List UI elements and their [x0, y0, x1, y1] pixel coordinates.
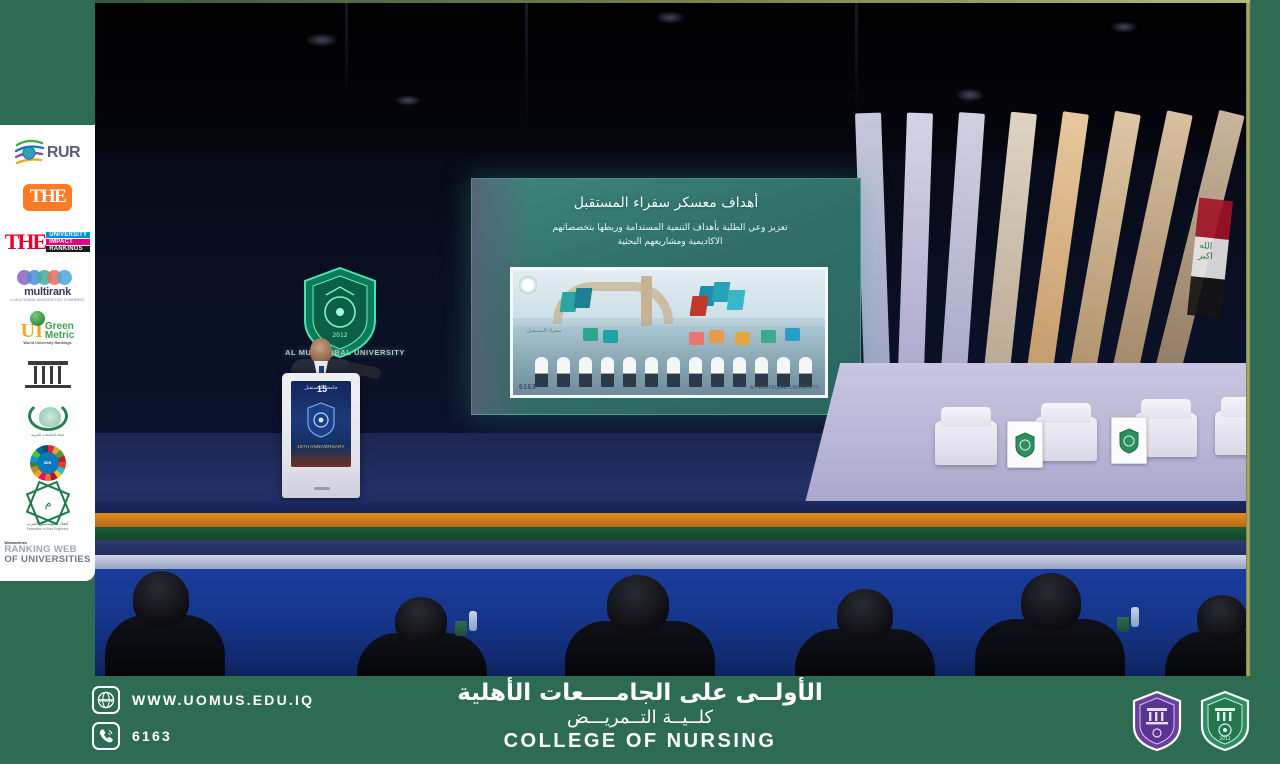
slide-photo-sdg-sign — [785, 328, 800, 341]
audience-head — [133, 571, 189, 627]
logo-webometrics: Webometrics RANKING WEB OF UNIVERSITIES — [4, 531, 92, 575]
slide-photo-logo-badge — [519, 276, 537, 294]
slide-subtitle-line1: تعزيز وعي الطلبة بأهداف التنمية المستدام… — [552, 223, 787, 233]
stage-strip-green — [95, 527, 1247, 540]
logo-sdg: SDG — [4, 441, 92, 485]
aaru-wreath-icon — [28, 401, 68, 431]
multirank-label: multirank — [24, 286, 71, 298]
slide-photo-sdg-sign — [603, 330, 618, 343]
audience-cup — [1117, 617, 1129, 632]
logo-multirank: multirank U-MULTIRANK UNIVERSITIES COMPA… — [4, 264, 92, 308]
slide-photo-flag — [690, 296, 709, 316]
logo-the: THE — [4, 175, 92, 219]
federation-star-icon: م — [25, 480, 69, 524]
podium-anniversary-text: 15TH ANNIVERSARY — [291, 444, 351, 449]
federation-glyph: م — [44, 496, 51, 509]
slide-subtitle-line2: الاكاديمية ومشاريعهم البحثية — [618, 237, 723, 247]
the-impact-bar-impact: IMPACT — [46, 239, 90, 245]
slide-photo-university-name-en: AL MUSTAQBAL UNIVERSITY — [750, 385, 819, 391]
placard-crest-icon — [1118, 428, 1140, 454]
audience-head — [607, 575, 669, 633]
frame-gold-edge-top — [95, 0, 1250, 3]
backdrop-university-name: AL MUSTAQBAL UNIVERSITY — [270, 348, 420, 357]
slide-photo-person — [777, 357, 790, 387]
greenmetric-globe-icon — [30, 311, 45, 326]
logo-federation-arab-engineers: م اتحاد المهندسين العرب Federation of Ar… — [4, 486, 92, 531]
svg-text:2012: 2012 — [1219, 736, 1231, 742]
headline-arabic: الأولــى على الجامــــعات الأهلية — [0, 680, 1280, 706]
rur-globe-icon — [15, 139, 45, 167]
slide-title: أهداف معسكر سفراء المستقبل — [472, 195, 860, 211]
stage-armchair — [1215, 411, 1247, 455]
slide-photo-person — [689, 357, 702, 387]
the-impact-bar-rankings: RANKINGS — [46, 246, 90, 252]
webometrics-line2: OF UNIVERSITIES — [4, 555, 90, 565]
ceiling-truss — [345, 3, 348, 103]
page-frame: الله اكبر 2012 AL MUSTAQBAL UNIVERSITY أ… — [0, 0, 1280, 764]
stage-strip-blue — [95, 501, 1247, 513]
slide-photo-sdg-sign — [583, 328, 598, 341]
podium-digital-screen: جامعة المستقبل 15 15TH ANNIVERSARY — [291, 381, 351, 467]
the-label: THE — [23, 184, 73, 211]
slide-photo-sdg-sign — [709, 330, 724, 343]
slide-photo-person — [557, 357, 570, 387]
stage-armchair — [935, 421, 997, 465]
ceiling-light — [395, 95, 421, 106]
university-crest-icon: 2012 — [1198, 690, 1252, 752]
temple-icon — [25, 361, 71, 388]
audience-head — [1197, 595, 1247, 641]
slide-photo-hotline: 6163 — [519, 384, 536, 391]
sdg-wheel-icon: SDG — [30, 445, 66, 481]
ministry-crest-icon — [1130, 690, 1184, 752]
footer-bar: WWW WWW.UOMUS.EDU.IQ 6163 الأولــى على ا… — [0, 676, 1280, 764]
logo-ui-greenmetric: UI Green Metric World University Ranking… — [4, 308, 92, 352]
podium-anniversary-number: 15 — [317, 384, 327, 394]
speaker-podium: جامعة المستقبل 15 15TH ANNIVERSARY — [282, 373, 360, 498]
college-name-english: COLLEGE OF NURSING — [0, 730, 1280, 753]
logo-the-impact-rankings: THE UNIVERSITY IMPACT RANKINGS — [4, 220, 92, 264]
slide-photo-sdg-sign — [689, 332, 704, 345]
audience-bottle — [1131, 607, 1139, 627]
ceiling-light — [655, 11, 685, 24]
slide-photo-person — [623, 357, 636, 387]
slide-photo-flag — [574, 288, 593, 308]
ceiling-light — [1110, 21, 1138, 33]
slide-photo-person — [755, 357, 768, 387]
ranking-logos-panel: RUR THE THE UNIVERSITY IMPACT RANKINGS — [0, 125, 95, 581]
decorative-fin — [939, 112, 985, 403]
audience-head — [395, 597, 447, 645]
slide-photo-person — [667, 357, 680, 387]
slide-group-photo: سفراء المستقبل 6163 AL MUSTAQBAL UNIVERS… — [510, 267, 828, 398]
rur-label: RUR — [47, 144, 80, 162]
slide-photo-university-name: AL MUSTAQBAL UNIVERSITY — [750, 385, 819, 391]
slide-photo-person — [733, 357, 746, 387]
college-name-arabic: كلــيــة التــمريـــض — [0, 707, 1280, 728]
college-identity-block: الأولــى على الجامــــعات الأهلية كلــيـ… — [0, 680, 1280, 753]
multirank-sublabel: U-MULTIRANK UNIVERSITIES COMPARED — [10, 298, 84, 302]
stage-armchair — [1035, 417, 1097, 461]
seat-placard — [1111, 417, 1147, 464]
greenmetric-sublabel: World University Rankings — [23, 341, 71, 345]
slide-photo-sdg-sign — [761, 330, 776, 343]
slide-photo-person — [711, 357, 724, 387]
placard-crest-icon — [1014, 432, 1036, 458]
slide-photo-person — [645, 357, 658, 387]
the-impact-label: THE — [5, 229, 45, 255]
ceiling-truss — [855, 3, 858, 113]
the-impact-bar-university: UNIVERSITY — [46, 232, 90, 238]
audience-bottle — [469, 611, 477, 631]
podium-crest-icon — [305, 401, 337, 439]
slide-photo-hotline-number: 6163 — [519, 384, 536, 391]
footer-crests: 2012 — [1130, 690, 1252, 752]
logo-rur: RUR — [4, 131, 92, 175]
conference-hall-photo: الله اكبر 2012 AL MUSTAQBAL UNIVERSITY أ… — [95, 3, 1247, 676]
slide-photo-person — [579, 357, 592, 387]
greenmetric-metric-label: Metric — [45, 331, 74, 340]
slide-photo-person — [799, 357, 812, 387]
aaru-label: اتحاد الجامعات العربية — [31, 433, 64, 437]
slide-photo-sdg-sign — [735, 332, 750, 345]
ceiling-truss — [525, 3, 528, 123]
stage-strip-orange — [95, 513, 1247, 527]
logo-temple-ranking — [4, 353, 92, 397]
frame-gold-edge-right — [1246, 0, 1251, 700]
logo-aaru: اتحاد الجامعات العربية — [4, 397, 92, 441]
slide-photo-caption: سفراء المستقبل — [527, 328, 561, 334]
podium-slot — [314, 487, 330, 490]
multirank-circles-icon — [22, 270, 72, 285]
audience-head — [1021, 573, 1081, 631]
sdg-hub-label: SDG — [37, 452, 59, 474]
projection-screen: أهداف معسكر سفراء المستقبل تعزيز وعي الط… — [471, 178, 861, 415]
svg-text:2012: 2012 — [332, 332, 347, 339]
slide-photo-person — [535, 357, 548, 387]
slide-photo-person — [601, 357, 614, 387]
audience-rail — [95, 555, 1247, 569]
ceiling-light — [305, 33, 339, 47]
seat-placard — [1007, 421, 1043, 468]
decorative-fin — [897, 113, 933, 404]
slide-subtitle: تعزيز وعي الطلبة بأهداف التنمية المستدام… — [500, 221, 840, 249]
slide-photo-flag — [727, 290, 746, 310]
audience-head — [837, 589, 893, 641]
audience-cup — [455, 621, 467, 636]
speaker-head — [310, 338, 332, 364]
ceiling-light — [955, 88, 985, 102]
